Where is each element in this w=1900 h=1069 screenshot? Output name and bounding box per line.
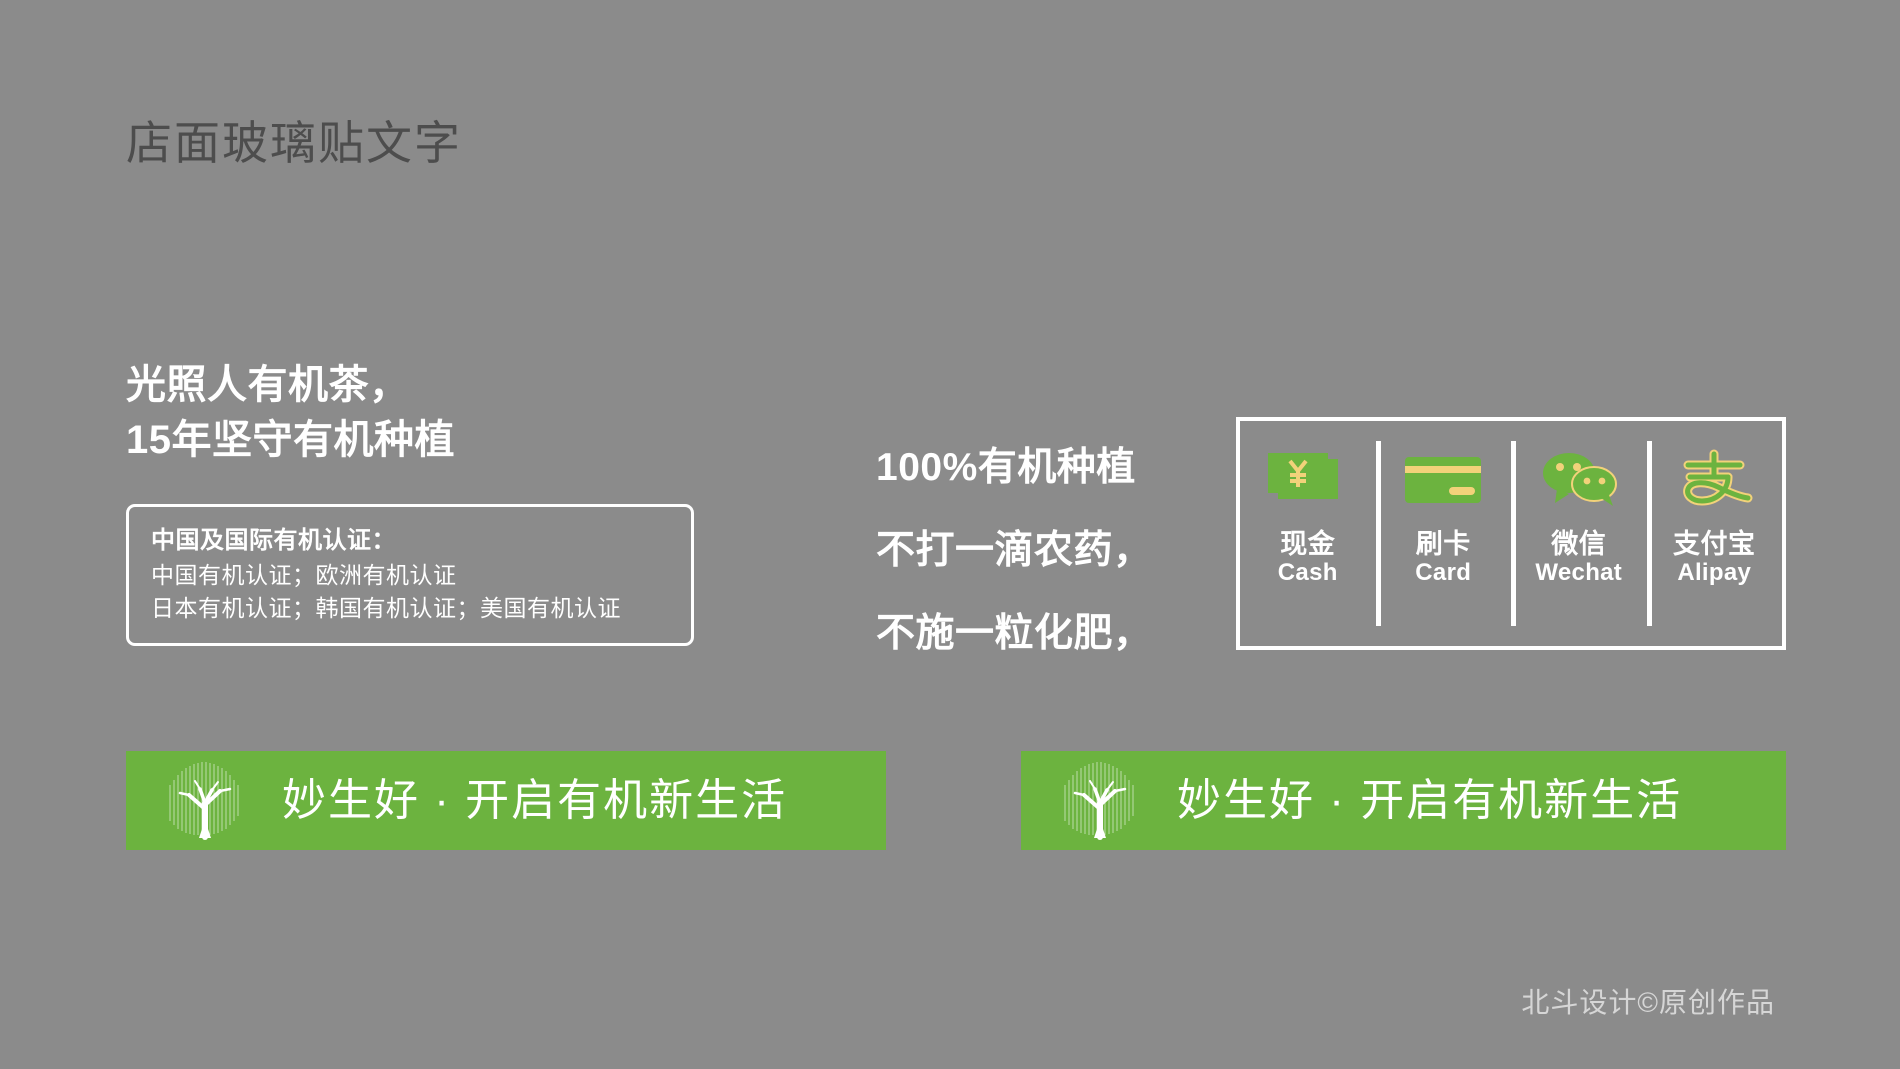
- payment-label-en: Card: [1415, 559, 1471, 587]
- credit-card-icon: [1395, 447, 1491, 513]
- alipay-icon: [1666, 447, 1762, 513]
- certification-title: 中国及国际有机认证：: [151, 523, 669, 559]
- slogan-line-2: 不打一滴农药，: [876, 531, 1206, 570]
- payment-method-card: 刷卡 Card: [1376, 421, 1512, 646]
- payment-label-cn: 支付宝: [1673, 529, 1756, 559]
- payment-label-en: Cash: [1278, 559, 1338, 587]
- payment-method-cash: 现金 Cash: [1240, 421, 1376, 646]
- payment-label-en: Wechat: [1535, 559, 1622, 587]
- willow-tree-icon: [1057, 759, 1143, 843]
- payment-method-alipay: 支付宝 Alipay: [1647, 421, 1783, 646]
- payment-method-wechat: 微信 Wechat: [1511, 421, 1647, 646]
- payment-label-cn: 刷卡: [1416, 529, 1471, 559]
- page-title: 店面玻璃贴文字: [126, 120, 462, 166]
- slogan-line-1: 100%有机种植: [876, 448, 1206, 487]
- payment-methods-box: 现金 Cash 刷卡 Card: [1236, 417, 1786, 650]
- willow-tree-icon: [162, 759, 248, 843]
- middle-content-column: 100%有机种植 不打一滴农药， 不施一粒化肥，: [876, 448, 1206, 653]
- wechat-icon: [1531, 447, 1627, 513]
- brand-banner-right: 妙生好 · 开启有机新生活: [1021, 751, 1786, 850]
- certification-line-2: 日本有机认证；韩国有机认证；美国有机认证: [151, 592, 669, 625]
- brand-banner-left: 妙生好 · 开启有机新生活: [126, 751, 886, 850]
- payment-label-cn: 微信: [1551, 529, 1606, 559]
- certification-line-1: 中国有机认证；欧洲有机认证: [151, 559, 669, 592]
- banner-slogan: 妙生好 · 开启有机新生活: [282, 779, 787, 823]
- banner-slogan: 妙生好 · 开启有机新生活: [1177, 779, 1682, 823]
- certification-box: 中国及国际有机认证： 中国有机认证；欧洲有机认证 日本有机认证；韩国有机认证；美…: [126, 504, 694, 645]
- cash-banknote-icon: [1260, 447, 1356, 513]
- payment-label-en: Alipay: [1677, 559, 1751, 587]
- headline-line-1: 光照人有机茶，: [126, 358, 726, 413]
- footer-credit: 北斗设计©原创作品: [1521, 989, 1775, 1017]
- headline-line-2: 15年坚守有机种植: [126, 413, 726, 468]
- slogan-line-3: 不施一粒化肥，: [876, 614, 1206, 653]
- left-content-column: 光照人有机茶， 15年坚守有机种植 中国及国际有机认证： 中国有机认证；欧洲有机…: [126, 358, 726, 646]
- payment-label-cn: 现金: [1280, 529, 1335, 559]
